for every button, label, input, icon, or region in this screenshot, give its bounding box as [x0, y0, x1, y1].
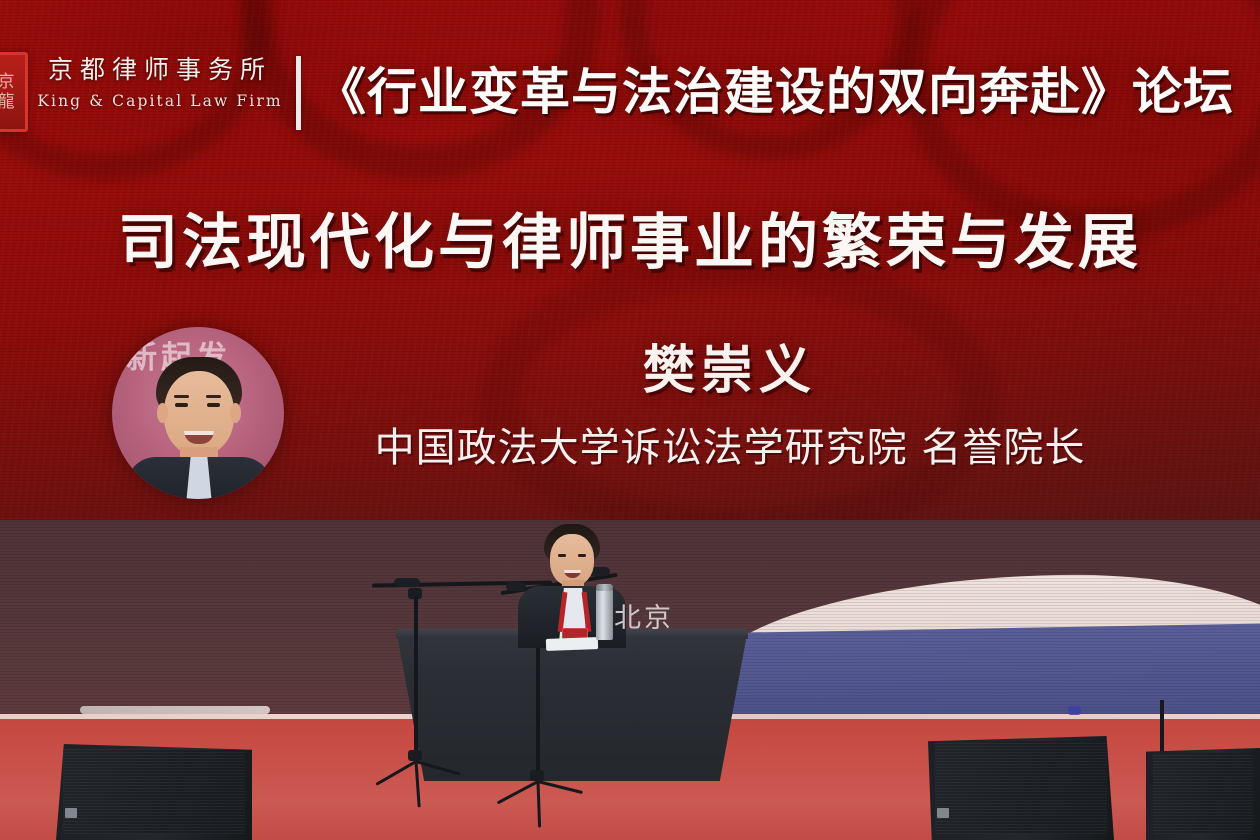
- portrait-ear-right: [230, 403, 241, 423]
- firm-logo: 京都律师事务所 King & Capital Law Firm: [36, 50, 284, 110]
- portrait-brow-left: [174, 395, 189, 398]
- portrait-eye-right: [207, 403, 220, 407]
- speaker-name: 樊崇义: [300, 328, 1160, 403]
- stage-monitor-speaker-far-right: [1146, 748, 1260, 840]
- forum-title: 《行业变革与法治建设的双向奔赴》论坛: [316, 52, 1260, 132]
- stage-cable-connector: [1068, 706, 1081, 715]
- stage-monitor-speaker-left: [56, 744, 252, 840]
- stage-monitor-speaker-center-right: [928, 736, 1114, 840]
- seal-glyph-top: 京: [0, 74, 15, 91]
- mic-base-hub: [530, 770, 544, 781]
- header-divider: [296, 56, 301, 130]
- portrait-ear-left: [157, 403, 168, 423]
- speaker-grill: [63, 749, 245, 834]
- wave-graphic-blue: [699, 623, 1260, 720]
- speaker-grill: [1153, 753, 1253, 834]
- conference-stage-photo: 京 龍 京都律师事务所 King & Capital Law Firm 《行业变…: [0, 0, 1260, 840]
- thermos-cap: [596, 584, 613, 591]
- portrait-eye-left: [175, 403, 188, 407]
- mic-pole: [414, 596, 418, 756]
- firm-name-cn: 京都律师事务所: [36, 50, 284, 86]
- slide-headline: 司法现代化与律师事业的繁荣与发展: [0, 194, 1260, 281]
- mic-base-hub: [408, 750, 422, 761]
- person-face: [550, 534, 594, 586]
- stage-cable: [80, 706, 270, 714]
- portrait-brow-right: [206, 395, 221, 398]
- portrait-jacket: [126, 457, 272, 499]
- screen-header-band: 京 龍 京都律师事务所 King & Capital Law Firm 《行业变…: [0, 46, 1260, 138]
- city-label: 北京: [614, 596, 674, 635]
- speaker-portrait-avatar: 新起发: [112, 327, 284, 499]
- thermos-flask: [596, 588, 613, 640]
- speaker-grill: [935, 741, 1107, 834]
- microphone-head-icon: [394, 578, 420, 587]
- seal-glyph-bottom: 龍: [0, 94, 15, 111]
- person-eye-left: [558, 554, 566, 557]
- firm-name-en: King & Capital Law Firm: [36, 92, 284, 110]
- seal-stamp-icon: 京 龍: [0, 52, 28, 132]
- person-paper-notes: [546, 637, 598, 651]
- speaker-brand-logo: [65, 808, 77, 818]
- speaker-brand-logo: [937, 808, 949, 818]
- mic-tripod-leg: [416, 760, 461, 776]
- speaker-role: 中国政法大学诉讼法学研究院 名誉院长: [280, 415, 1180, 473]
- wave-graphic-white: [698, 570, 1260, 720]
- person-eye-right: [578, 554, 586, 557]
